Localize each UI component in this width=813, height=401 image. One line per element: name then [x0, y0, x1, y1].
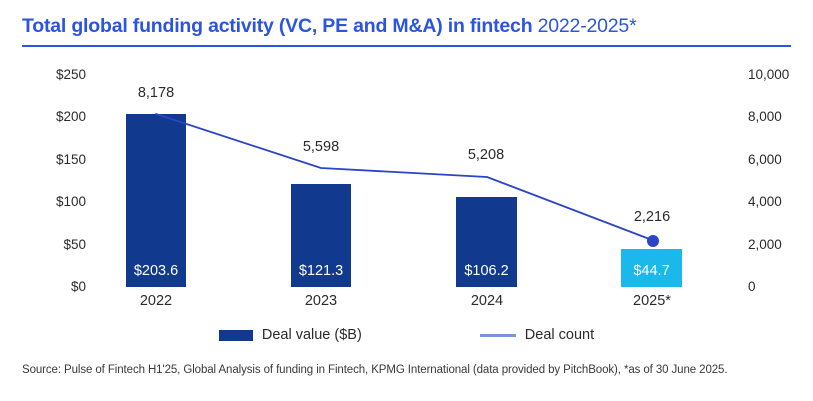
- bar-2023[interactable]: $121.3: [291, 184, 351, 287]
- left-axis-tick-250: $250: [16, 68, 86, 82]
- right-axis-tick-10000: 10,000: [748, 68, 813, 82]
- right-axis-tick-6000: 6,000: [748, 153, 813, 167]
- legend-line-swatch-icon: [480, 334, 516, 337]
- bar-2025[interactable]: $44.7: [621, 249, 682, 287]
- legend-label-deal-count: Deal count: [525, 326, 594, 344]
- bar-value-label-2022: $203.6: [126, 263, 186, 279]
- x-axis-label-2025: 2025*: [592, 292, 712, 310]
- line-point-label-2022: 8,178: [111, 85, 201, 101]
- left-axis-tick-200: $200: [16, 110, 86, 124]
- legend-bar-swatch-icon: [219, 330, 253, 341]
- bar-value-label-2024: $106.2: [456, 263, 517, 279]
- bar-2022[interactable]: $203.6: [126, 114, 186, 287]
- x-axis-label-2024: 2024: [427, 292, 547, 310]
- left-axis-tick-0: $0: [16, 280, 86, 294]
- right-axis-tick-2000: 2,000: [748, 238, 813, 252]
- line-point-label-2023: 5,598: [276, 139, 366, 155]
- legend-label-deal-value: Deal value ($B): [262, 326, 362, 344]
- x-axis-label-2022: 2022: [96, 292, 216, 310]
- line-point-label-2025: 2,216: [607, 209, 697, 225]
- left-axis-tick-100: $100: [16, 195, 86, 209]
- left-axis-tick-50: $50: [16, 238, 86, 252]
- line-point-label-2024: 5,208: [441, 147, 531, 163]
- deal-count-polyline: [156, 114, 652, 240]
- x-axis-label-2023: 2023: [261, 292, 381, 310]
- bar-2024[interactable]: $106.2: [456, 197, 517, 287]
- deal-count-marker-2025[interactable]: [647, 235, 659, 247]
- chart-legend: Deal value ($B) Deal count: [0, 326, 813, 344]
- right-axis-tick-8000: 8,000: [748, 110, 813, 124]
- legend-item-deal-value[interactable]: Deal value ($B): [219, 326, 362, 344]
- bar-value-label-2025: $44.7: [621, 263, 682, 279]
- bar-value-label-2023: $121.3: [291, 263, 351, 279]
- right-axis-tick-0: 0: [748, 280, 813, 294]
- source-note: Source: Pulse of Fintech H1'25, Global A…: [22, 363, 727, 378]
- legend-item-deal-count[interactable]: Deal count: [480, 326, 594, 344]
- right-axis-tick-4000: 4,000: [748, 195, 813, 209]
- left-axis-tick-150: $150: [16, 153, 86, 167]
